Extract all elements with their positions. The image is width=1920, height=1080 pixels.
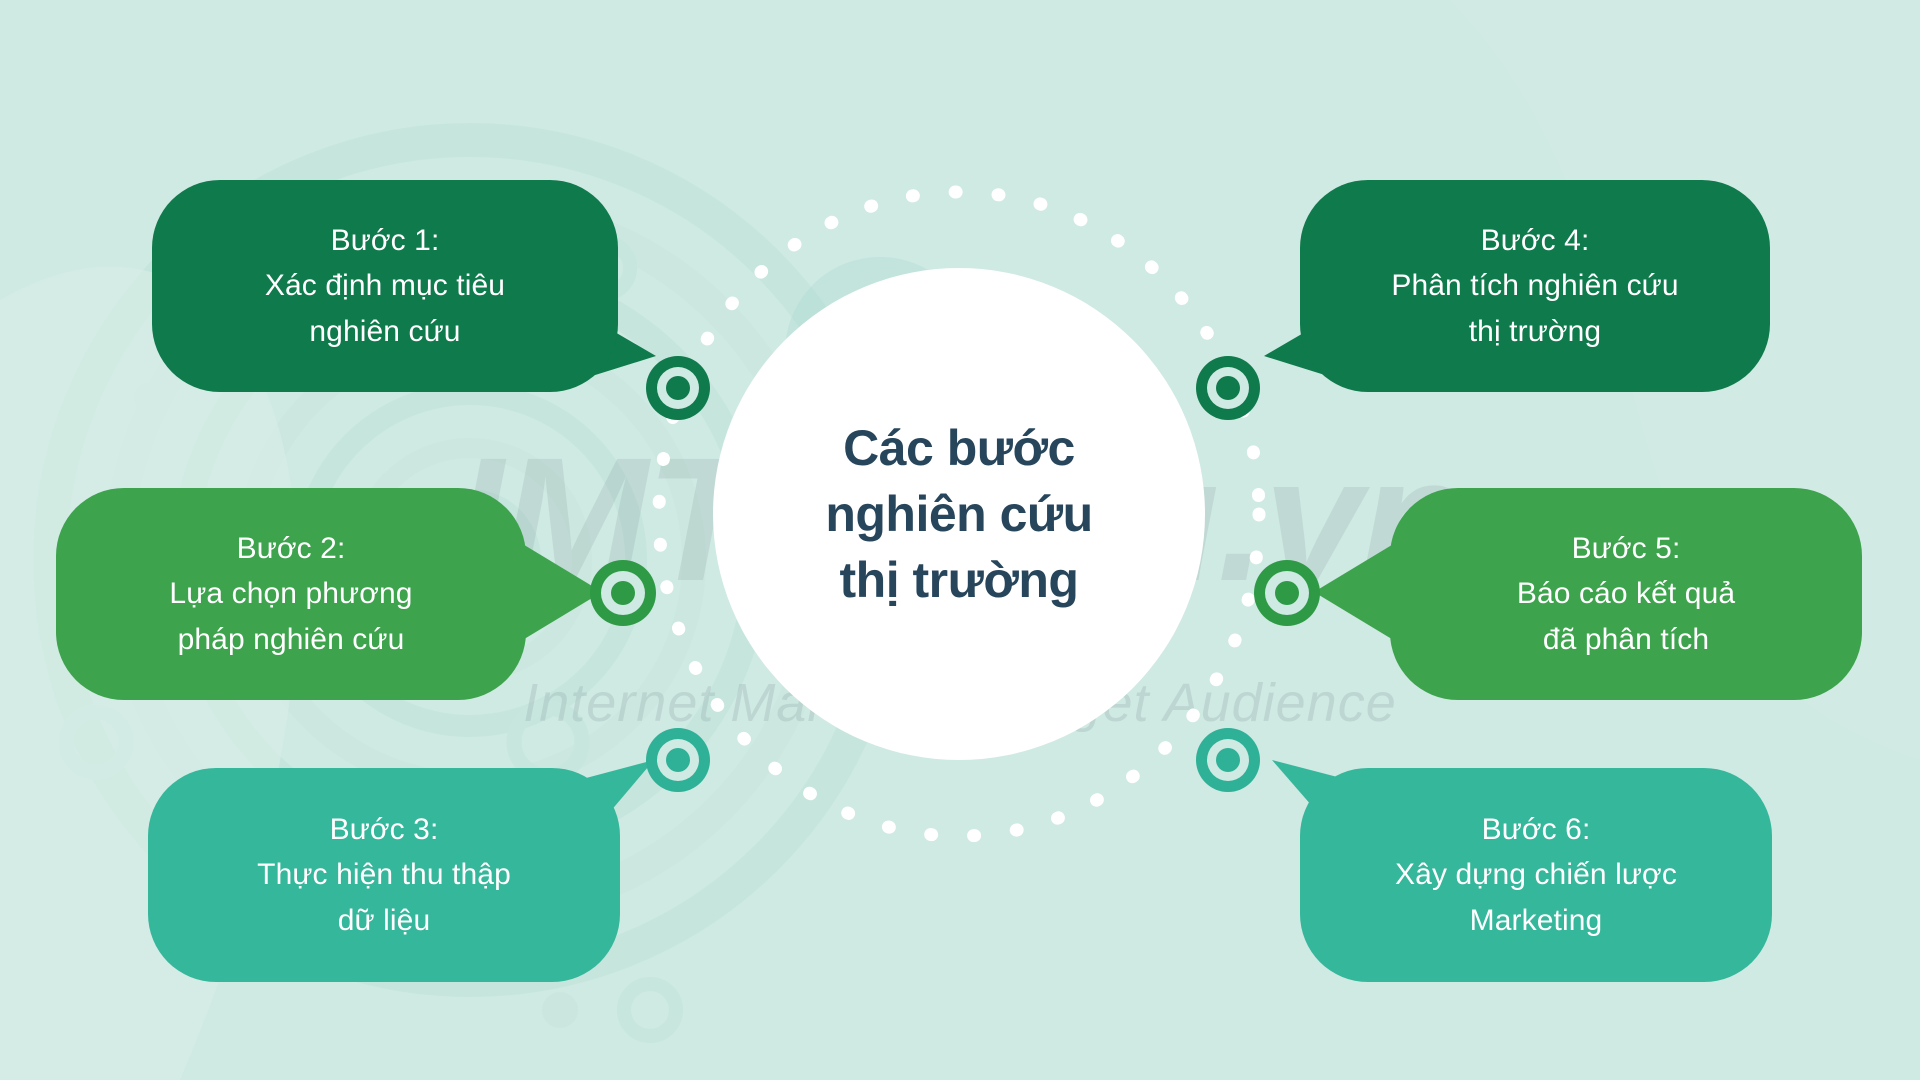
- step-1-line-1: Xác định mục tiêu: [265, 263, 505, 309]
- step-5-text: Bước 5: Báo cáo kết quả đã phân tích: [1517, 526, 1735, 663]
- step-6-line-2: Marketing: [1395, 898, 1677, 944]
- step-2-marker[interactable]: [590, 560, 656, 626]
- step-2-text: Bước 2: Lựa chọn phương pháp nghiên cứu: [169, 526, 412, 663]
- center-title-line-3: thị trường: [840, 547, 1079, 613]
- step-6-text: Bước 6: Xây dựng chiến lược Marketing: [1395, 807, 1677, 944]
- step-1-marker-core: [666, 376, 690, 400]
- step-4-text: Bước 4: Phân tích nghiên cứu thị trường: [1391, 218, 1678, 355]
- step-5-heading: Bước 5:: [1517, 526, 1735, 572]
- step-3-marker-core: [666, 748, 690, 772]
- step-4-bubble[interactable]: Bước 4: Phân tích nghiên cứu thị trường: [1300, 180, 1770, 392]
- step-3-line-2: dữ liệu: [257, 898, 511, 944]
- step-6-marker-core: [1216, 748, 1240, 772]
- step-4-marker[interactable]: [1196, 356, 1260, 420]
- step-3-line-1: Thực hiện thu thập: [257, 852, 511, 898]
- step-5-marker-core: [1275, 581, 1299, 605]
- step-2-heading: Bước 2:: [169, 526, 412, 572]
- step-5-line-1: Báo cáo kết quả: [1517, 571, 1735, 617]
- page-title: Các bước nghiên cứu thị trường: [713, 268, 1205, 760]
- step-3-text: Bước 3: Thực hiện thu thập dữ liệu: [257, 807, 511, 944]
- step-6-marker[interactable]: [1196, 728, 1260, 792]
- step-4-marker-core: [1216, 376, 1240, 400]
- step-4-line-2: thị trường: [1391, 309, 1678, 355]
- step-2-line-1: Lựa chọn phương: [169, 571, 412, 617]
- step-3-marker[interactable]: [646, 728, 710, 792]
- step-4-heading: Bước 4:: [1391, 218, 1678, 264]
- step-2-line-2: pháp nghiên cứu: [169, 617, 412, 663]
- step-1-marker[interactable]: [646, 356, 710, 420]
- step-1-heading: Bước 1:: [265, 218, 505, 264]
- step-1-line-2: nghiên cứu: [265, 309, 505, 355]
- step-6-bubble[interactable]: Bước 6: Xây dựng chiến lược Marketing: [1300, 768, 1772, 982]
- step-6-heading: Bước 6:: [1395, 807, 1677, 853]
- step-5-marker[interactable]: [1254, 560, 1320, 626]
- step-3-bubble[interactable]: Bước 3: Thực hiện thu thập dữ liệu: [148, 768, 620, 982]
- step-1-bubble[interactable]: Bước 1: Xác định mục tiêu nghiên cứu: [152, 180, 618, 392]
- step-2-bubble[interactable]: Bước 2: Lựa chọn phương pháp nghiên cứu: [56, 488, 526, 700]
- step-5-line-2: đã phân tích: [1517, 617, 1735, 663]
- step-3-heading: Bước 3:: [257, 807, 511, 853]
- center-title-line-1: Các bước: [843, 415, 1075, 481]
- center-title-line-2: nghiên cứu: [825, 481, 1092, 547]
- infographic-canvas: IMTA.edu.vn Internet Marketing Target Au…: [0, 0, 1920, 1080]
- step-5-bubble[interactable]: Bước 5: Báo cáo kết quả đã phân tích: [1390, 488, 1862, 700]
- step-4-line-1: Phân tích nghiên cứu: [1391, 263, 1678, 309]
- step-2-marker-core: [611, 581, 635, 605]
- step-6-line-1: Xây dựng chiến lược: [1395, 852, 1677, 898]
- step-1-text: Bước 1: Xác định mục tiêu nghiên cứu: [265, 218, 505, 355]
